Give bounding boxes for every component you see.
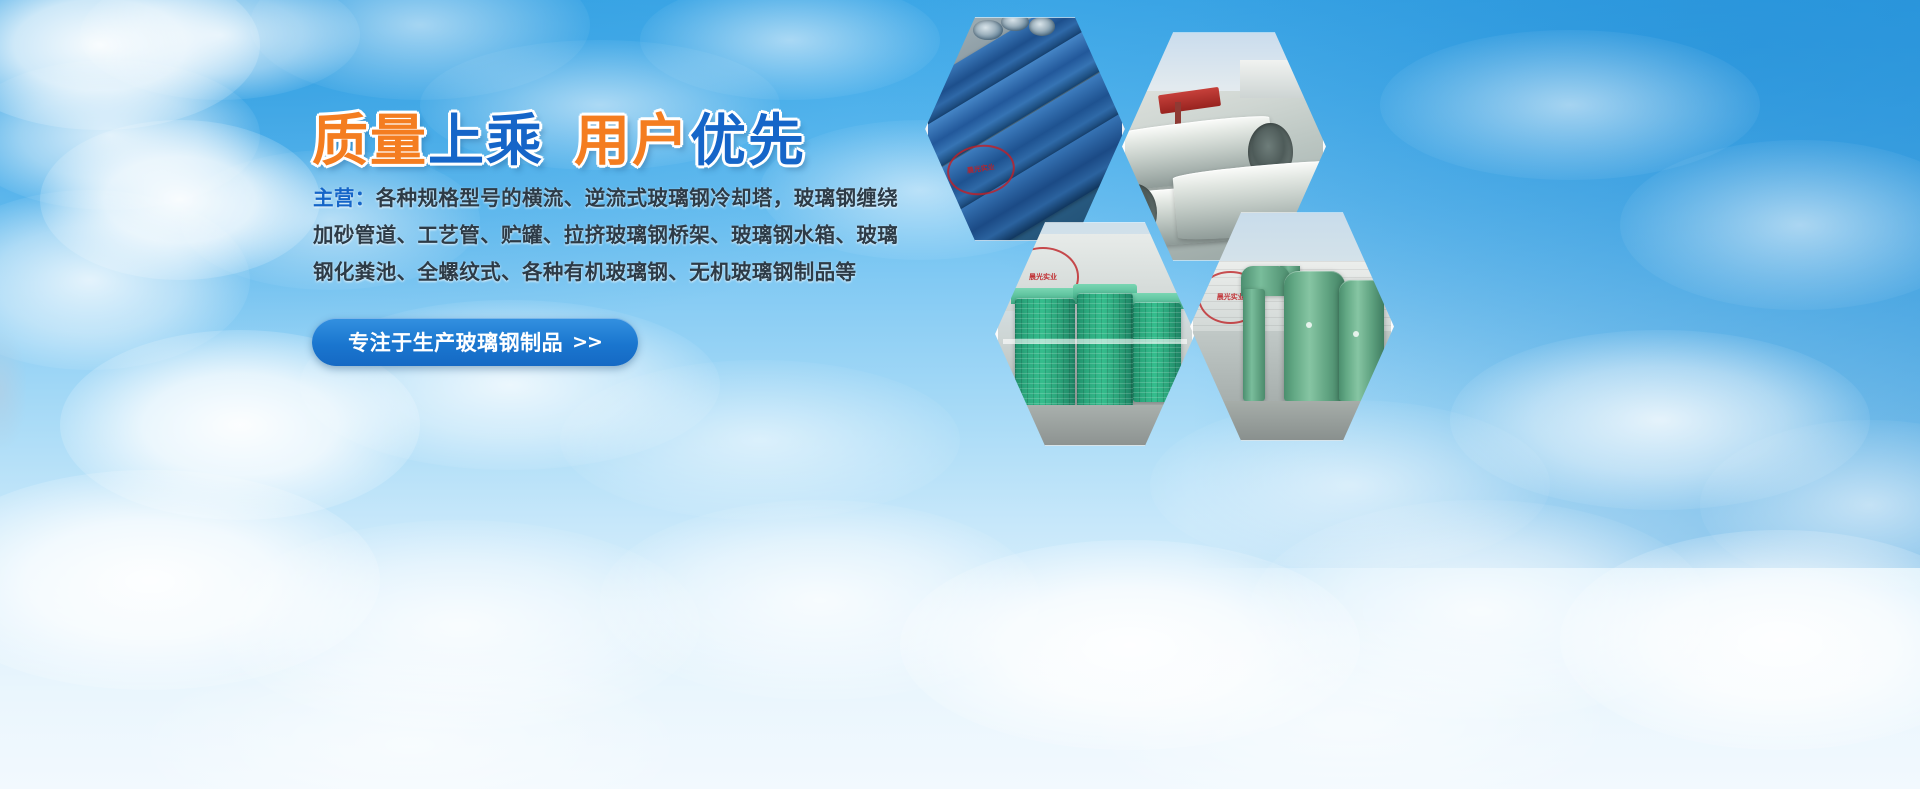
hex-photo-collage: 晨光实业 晨光实业	[900, 0, 1460, 420]
hex-photo-frp-pipes-blue[interactable]: 晨光实业	[925, 15, 1125, 243]
description-body: 各种规格型号的横流、逆流式玻璃钢冷却塔，玻璃钢缠绕加砂管道、工艺管、贮罐、拉挤玻…	[313, 186, 898, 284]
headline-segment-3: 用户	[574, 96, 690, 177]
headline-segment-2: 上乘	[428, 96, 544, 177]
headline-segment-1: 质量	[312, 96, 428, 177]
banner-headline: 质量上乘用户优先	[312, 96, 806, 177]
hex-photo-frp-cooling-towers[interactable]: 晨光实业	[995, 220, 1195, 448]
banner-content: 质量上乘用户优先 主营：各种规格型号的横流、逆流式玻璃钢冷却塔，玻璃钢缠绕加砂管…	[0, 0, 960, 789]
headline-segment-4: 优先	[690, 96, 806, 177]
cta-label: 专注于生产玻璃钢制品	[348, 327, 563, 357]
cta-arrow-icon: >>	[572, 331, 602, 353]
description-lead: 主营：	[313, 186, 376, 210]
banner-description: 主营：各种规格型号的横流、逆流式玻璃钢冷却塔，玻璃钢缠绕加砂管道、工艺管、贮罐、…	[313, 180, 913, 291]
cta-button[interactable]: 专注于生产玻璃钢制品 >>	[312, 318, 638, 366]
hero-banner: 质量上乘用户优先 主营：各种规格型号的横流、逆流式玻璃钢冷却塔，玻璃钢缠绕加砂管…	[0, 0, 1920, 789]
